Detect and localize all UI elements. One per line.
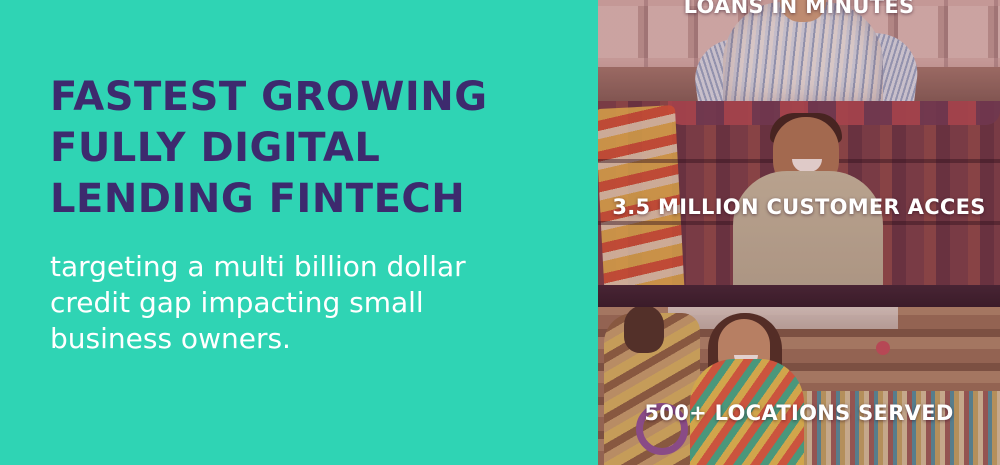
photo-panel-loans: LOANS IN MINUTES: [598, 0, 1000, 101]
photo-column: LOANS IN MINUTES 3.5 MILLION CUSTOMER AC…: [598, 0, 1000, 465]
photo-panel-locations: 500+ LOCATIONS SERVED: [598, 307, 1000, 465]
photo-panel-customers: 3.5 MILLION CUSTOMER ACCES: [598, 101, 1000, 307]
page-title: FASTEST GROWING FULLY DIGITAL LENDING FI…: [50, 72, 570, 225]
headline-line-1: FASTEST GROWING: [50, 72, 570, 123]
photo-caption-1: LOANS IN MINUTES: [598, 0, 1000, 18]
left-text-panel: FASTEST GROWING FULLY DIGITAL LENDING FI…: [0, 0, 598, 465]
page-subtitle: targeting a multi billion dollar credit …: [50, 249, 570, 357]
headline-line-3: LENDING FINTECH: [50, 174, 570, 225]
subtitle-line-2: credit gap impacting small: [50, 285, 570, 321]
subtitle-line-1: targeting a multi billion dollar: [50, 249, 570, 285]
marketing-slide: FASTEST GROWING FULLY DIGITAL LENDING FI…: [0, 0, 1000, 465]
headline-line-2: FULLY DIGITAL: [50, 123, 570, 174]
photo-tint-overlay: [598, 307, 1000, 465]
photo-caption-3: 500+ LOCATIONS SERVED: [598, 401, 1000, 425]
photo-caption-2: 3.5 MILLION CUSTOMER ACCES: [598, 195, 1000, 219]
subtitle-line-3: business owners.: [50, 321, 570, 357]
